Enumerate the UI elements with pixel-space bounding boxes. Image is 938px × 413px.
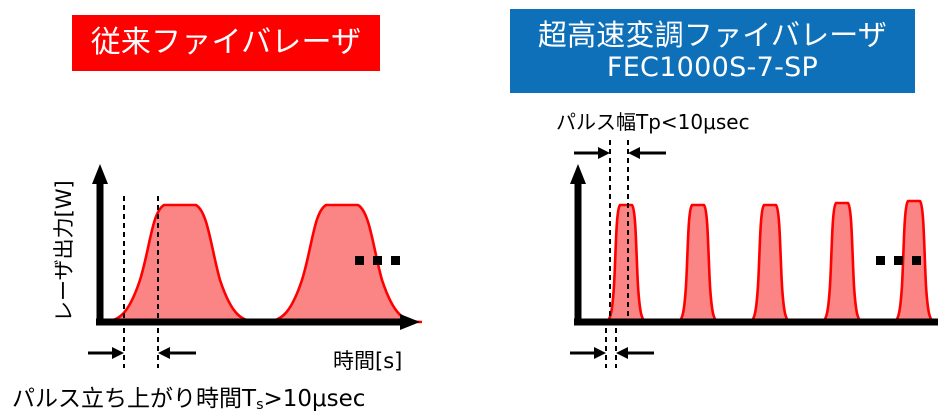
right-risetime-markers bbox=[570, 328, 654, 368]
right-ellipsis-icon bbox=[876, 256, 921, 265]
right-pulse-chart bbox=[468, 0, 938, 413]
left-ellipsis-icon bbox=[355, 256, 400, 265]
right-waveform bbox=[604, 201, 936, 322]
left-caption-prefix: パルス立ち上がり時間T bbox=[12, 386, 256, 412]
conventional-laser-panel: 従来ファイバレーザ レーザ出力[W] 時間[s] bbox=[0, 0, 470, 413]
ultrafast-laser-panel: 超高速変調ファイバレーザ FEC1000S-7-SP bbox=[468, 0, 938, 413]
left-caption-sub: s bbox=[256, 397, 263, 413]
left-pulse-chart bbox=[0, 0, 470, 413]
pulse-width-annotation: パルス幅Tp<10μsec bbox=[556, 106, 750, 135]
left-caption-suffix: >10μsec bbox=[264, 386, 366, 412]
left-caption: パルス立ち上がり時間Ts>10μsec bbox=[12, 379, 365, 413]
